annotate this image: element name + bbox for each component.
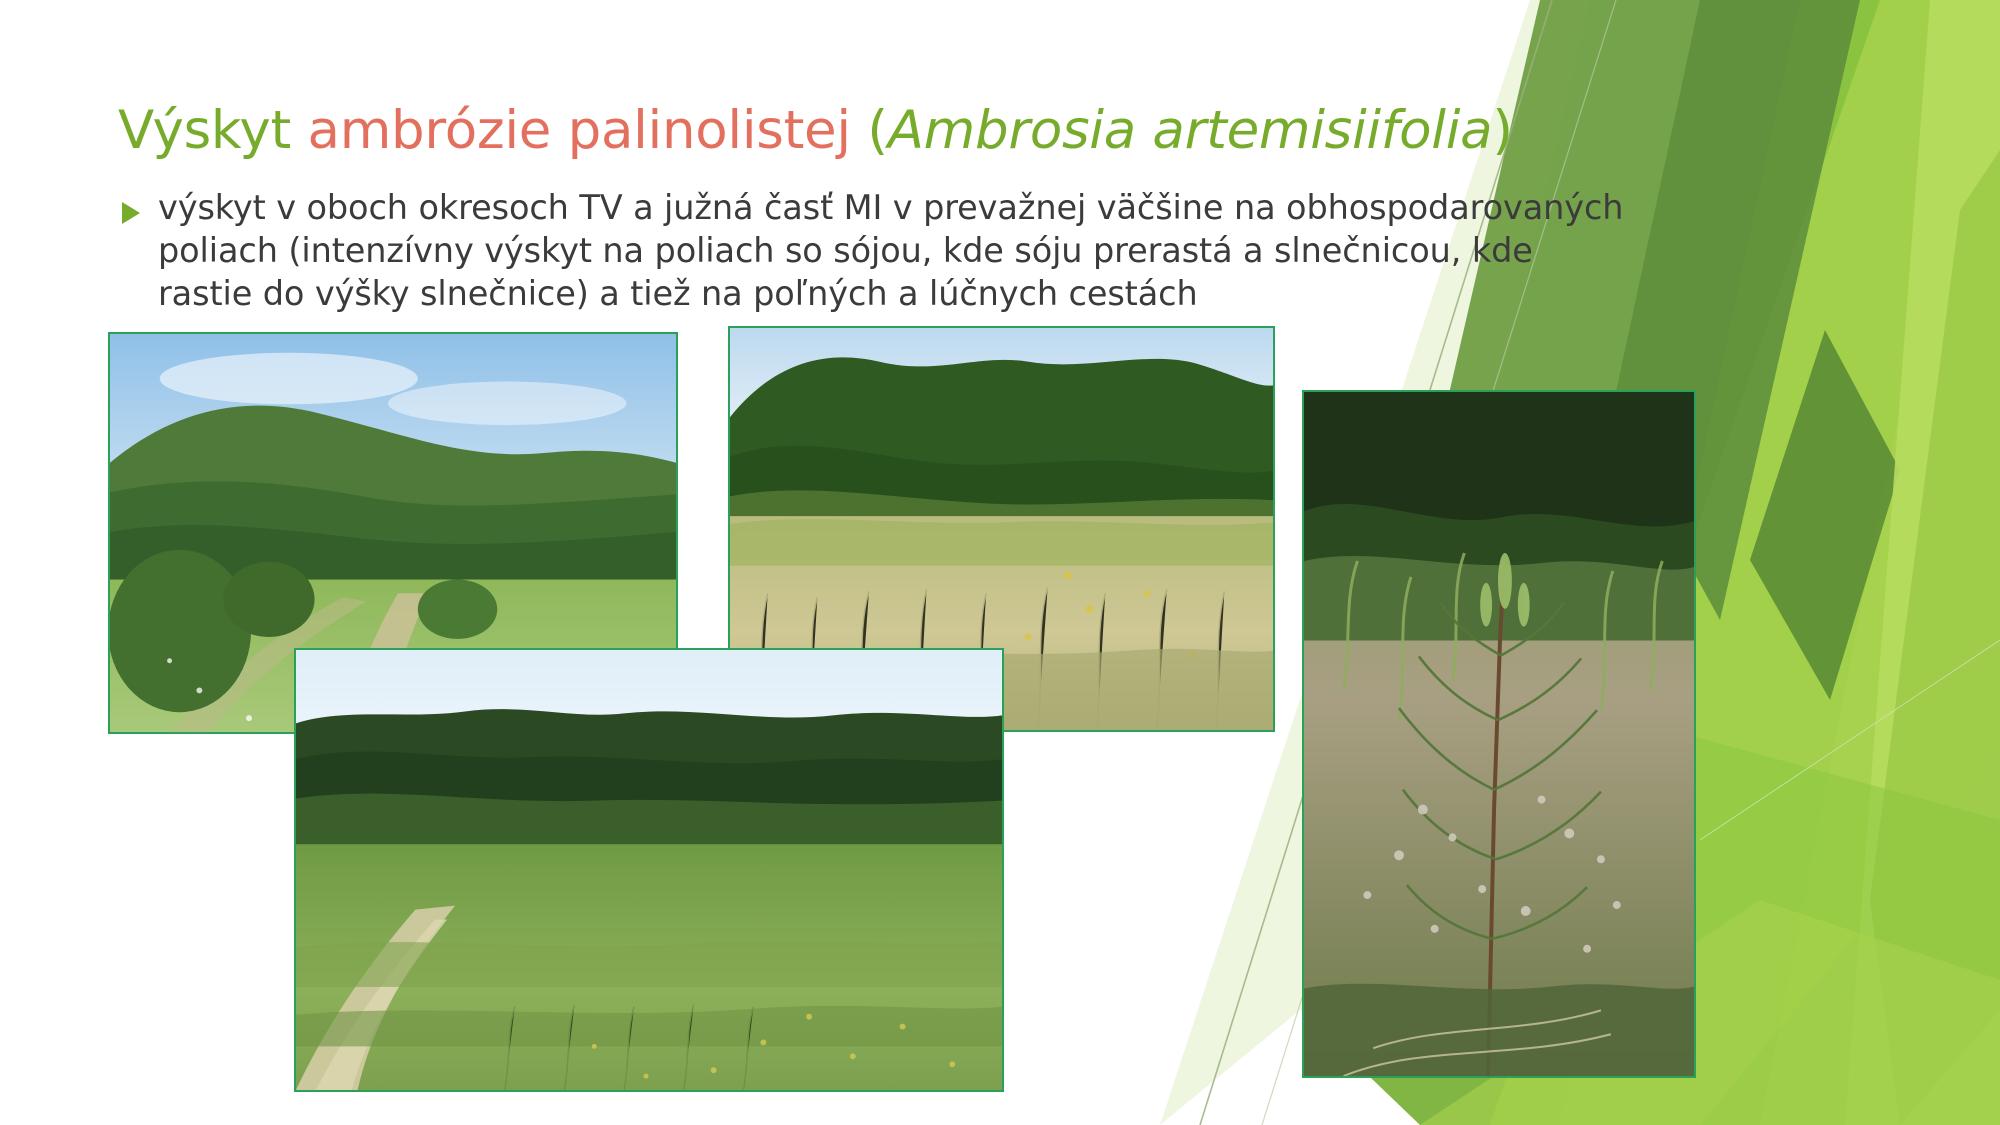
facet-lime-right bbox=[1845, 0, 2000, 1125]
facet-dark-green-2 bbox=[1750, 330, 1900, 700]
title-segment-latin: Ambrosia artemisiifolia bbox=[888, 100, 1493, 161]
title-paren-open: ( bbox=[867, 100, 887, 161]
photo-forest-meadow[interactable] bbox=[294, 648, 1004, 1092]
facet-hairline-3 bbox=[1700, 640, 2000, 840]
title-segment-ambrozie: ambrózie palinolistej bbox=[308, 100, 868, 161]
facet-lime-right-2 bbox=[1870, 150, 2000, 1125]
photo-ragweed-plant[interactable] bbox=[1302, 390, 1696, 1078]
presentation-slide: Výskyt ambrózie palinolistej (Ambrosia a… bbox=[0, 0, 2000, 1125]
title-segment-vyskyt: Výskyt bbox=[118, 100, 308, 161]
triangle-right-icon bbox=[118, 186, 152, 226]
slide-title: Výskyt ambrózie palinolistej (Ambrosia a… bbox=[118, 99, 1678, 165]
slide-body: výskyt v oboch okresoch TV a južná časť … bbox=[118, 186, 1718, 315]
bullet-text: výskyt v oboch okresoch TV a južná časť … bbox=[158, 186, 1626, 315]
bullet-item: výskyt v oboch okresoch TV a južná časť … bbox=[118, 186, 1718, 315]
title-paren-close: ) bbox=[1492, 100, 1512, 161]
